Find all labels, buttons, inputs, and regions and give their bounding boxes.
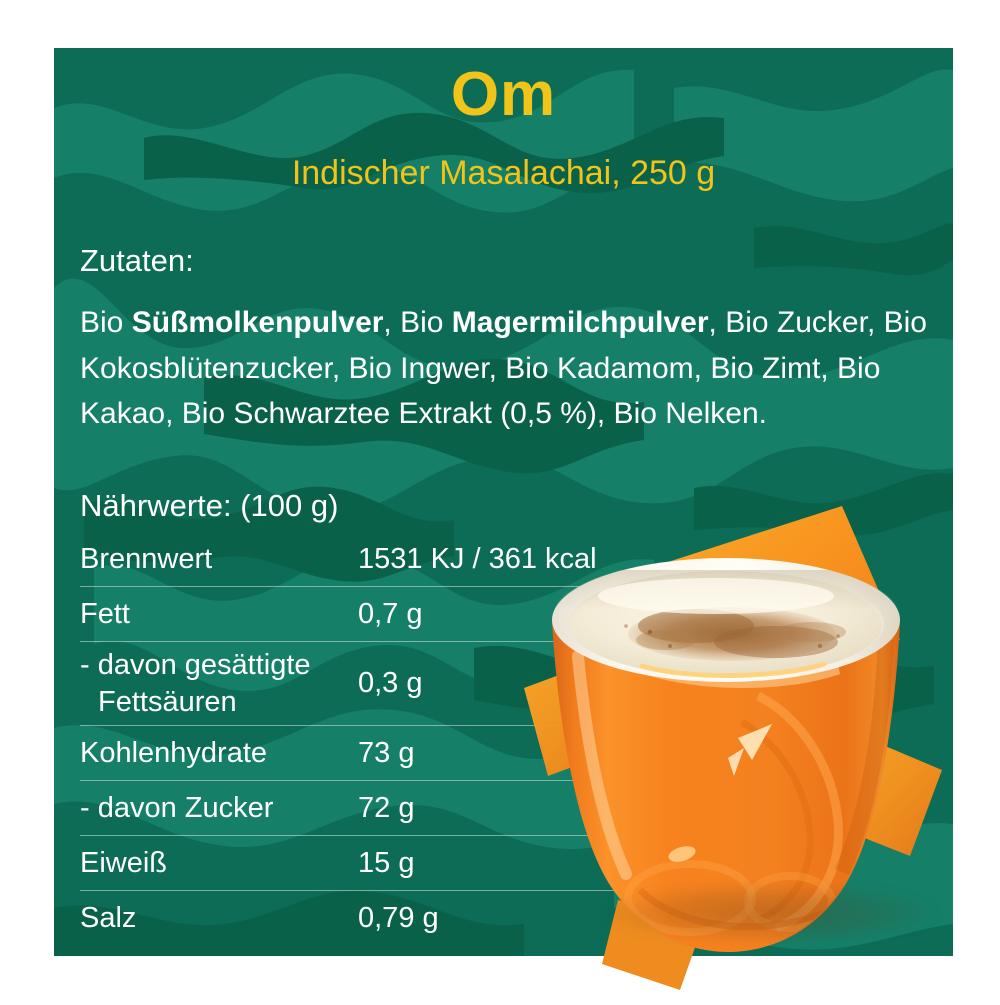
product-subtitle: Indischer Masalachai, 250 g xyxy=(54,156,953,190)
label-canvas: Om Indischer Masalachai, 250 g Zutaten: … xyxy=(0,0,1000,1000)
nutrition-label-line: Kohlenhydrate xyxy=(80,737,267,769)
ingredients-section: Zutaten: Bio Süßmolkenpulver, Bio Magerm… xyxy=(80,245,930,437)
nutrition-label: Salz xyxy=(80,900,358,937)
ingredients-text: Bio Süßmolkenpulver, Bio Magermilchpulve… xyxy=(80,300,930,437)
product-photo xyxy=(490,470,1000,1000)
nutrition-label: Brennwert xyxy=(80,541,358,578)
nutrition-label: - davon Zucker xyxy=(80,790,358,827)
product-title: Om xyxy=(54,64,953,126)
nutrition-label-line: Eiweiß xyxy=(80,847,167,879)
nutrition-label: - davon gesättigteFettsäuren xyxy=(80,647,358,720)
nutrition-label-line: Fettsäuren xyxy=(80,684,352,721)
ingredient-text: Bio xyxy=(80,306,132,339)
nutrition-label-line: Brennwert xyxy=(80,543,212,575)
nutrition-label-line: Fett xyxy=(80,598,130,630)
ingredient-allergen: Magermilchpulver xyxy=(452,306,709,339)
nutrition-label-line: - davon Zucker xyxy=(80,792,273,824)
nutrition-label-line: Salz xyxy=(80,902,136,934)
nutrition-label-line: - davon gesättigte xyxy=(80,649,311,681)
ingredient-text: , Bio xyxy=(383,306,451,339)
nutrition-label: Eiweiß xyxy=(80,845,358,882)
ingredients-heading: Zutaten: xyxy=(80,245,930,276)
nutrition-label: Kohlenhydrate xyxy=(80,735,358,772)
cup-shadow xyxy=(602,882,937,944)
ingredient-allergen: Süßmolkenpulver xyxy=(132,306,384,339)
nutrition-label: Fett xyxy=(80,596,358,633)
